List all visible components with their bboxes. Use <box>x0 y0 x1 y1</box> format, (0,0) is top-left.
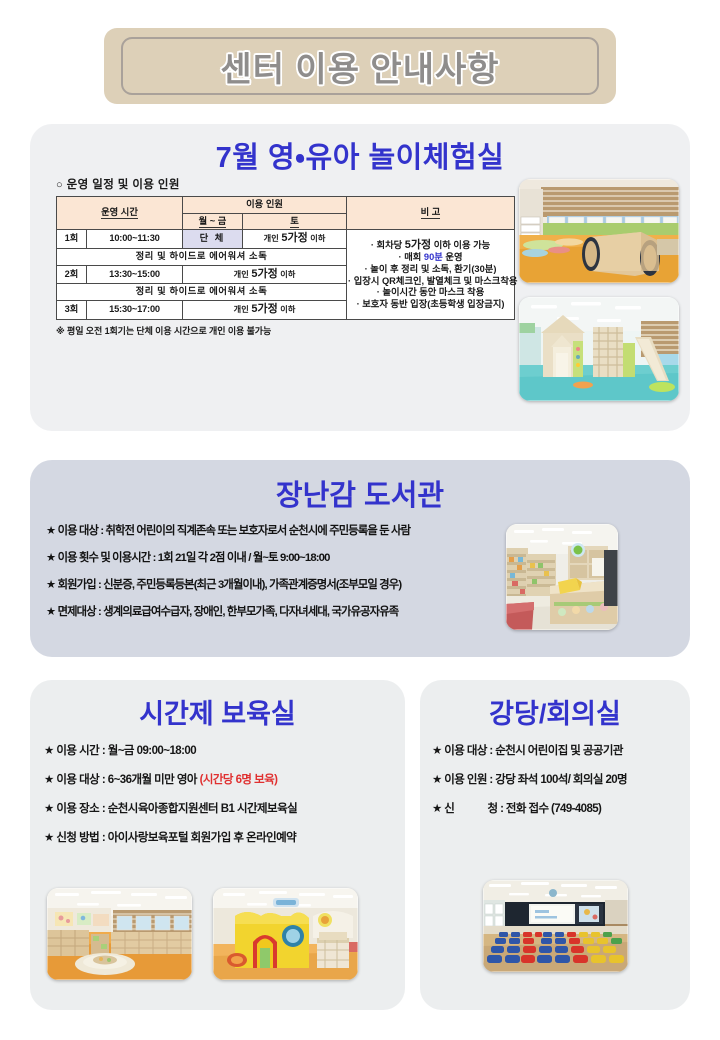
list-item-text: ★ 신청 방법 : 아이사랑보육포털 회원가입 후 온라인예약 <box>44 832 296 844</box>
list-item: ★ 이용 인원 : 강당 좌석 100석/ 회의실 20명 <box>432 771 694 787</box>
toy-library-info-list: ★ 이용 대상 : 취학전 어린이의 직계존속 또는 보호자로서 순천시에 주민… <box>46 522 546 630</box>
list-item-text: ★ 이용 대상 : 6~36개월 미만 영아 <box>44 774 200 786</box>
section-toy-library-heading: 장난감 도서관 <box>30 460 690 514</box>
sanitize-note: 정리 및 하이드로 에어워셔 소독 <box>57 248 347 265</box>
poster-title-frame: 센터 이용 안내사항 <box>121 37 599 95</box>
list-item-value: 전화 접수 (749-4085) <box>506 803 601 815</box>
session-no: 3회 <box>57 300 87 319</box>
list-item-label: ★ 신 <box>432 803 454 815</box>
list-item-highlight: (시간당 6명 보육) <box>200 774 278 786</box>
playroom-tunnel-illustration <box>519 179 679 283</box>
toy-library-illustration <box>506 524 618 630</box>
operation-schedule-table: 운영 시간 이용 인원 비 고 월 ~ 금 <box>56 196 515 320</box>
table-header-row-1: 운영 시간 이용 인원 비 고 <box>57 197 515 214</box>
list-item-text: ★ 이용 시간 : 월~금 09:00~18:00 <box>44 745 196 757</box>
session-no: 1회 <box>57 230 87 249</box>
table-row: 1회 10:00~11:30 단 체 개인 5가정 이하 · 회차당 5가정 이… <box>57 230 515 249</box>
schedule-table-caption: ○ 운영 일정 및 이용 인원 <box>56 176 516 196</box>
playroom-structure-photo <box>519 297 679 401</box>
list-item: ★ 신 청 : 전화 접수 (749-4085) <box>432 800 694 816</box>
session-no: 2회 <box>57 265 87 284</box>
page-title: 센터 이용 안내사항 <box>220 42 499 91</box>
th-operation-time: 운영 시간 <box>57 197 183 230</box>
list-item-value: 강당 좌석 100석/ 회의실 20명 <box>495 774 627 786</box>
daycare-room-photo <box>47 888 192 980</box>
toy-library-photo <box>506 524 618 630</box>
list-item-text: ★ 이용 장소 : 순천시육아종합지원센터 B1 시간제보육실 <box>44 803 297 815</box>
remark-item: · 보호자 동반 입장(초등학생 입장금지) <box>348 299 513 311</box>
section-hourly-daycare-heading: 시간제 보육실 <box>30 680 405 731</box>
list-item: ★ 이용 시간 : 월~금 09:00~18:00 <box>44 742 396 758</box>
hourly-daycare-info-list: ★ 이용 시간 : 월~금 09:00~18:00 ★ 이용 대상 : 6~36… <box>44 742 396 858</box>
list-item: ★ 면제대상 : 생계의료급여수급자, 장애인, 한부모가족, 다자녀세대, 국… <box>46 603 546 619</box>
th-weekday: 월 ~ 금 <box>183 213 243 230</box>
th-remarks: 비 고 <box>347 197 515 230</box>
auditorium-info-list: ★ 이용 대상 : 순천시 어린이집 및 공공기관 ★ 이용 인원 : 강당 좌… <box>432 742 694 829</box>
daycare-playhouse-illustration <box>213 888 358 980</box>
daycare-playhouse-photo <box>213 888 358 980</box>
remarks-cell: · 회차당 5가정 이하 이용 가능 · 매회 90분 운영 · 놀이 후 정리… <box>347 230 515 319</box>
section-auditorium-heading: 강당/회의실 <box>420 680 690 731</box>
list-item-label: ★ 이용 인원 : <box>432 774 495 786</box>
schedule-caption-text: 운영 일정 및 이용 인원 <box>67 179 180 191</box>
schedule-footnote: ※ 평일 오전 1회기는 단체 이용 시간으로 개인 이용 불가능 <box>56 320 516 337</box>
remark-item: · 회차당 5가정 이하 이용 가능 <box>348 239 513 253</box>
poster-title-banner: 센터 이용 안내사항 <box>104 28 616 104</box>
session-merged-capacity: 개인 5가정 이하 <box>183 265 347 284</box>
auditorium-photo <box>483 880 628 972</box>
remark-item: · 입장시 QR체크인, 발열체크 및 마스크착용 <box>348 276 513 288</box>
list-item-label-2: 청 : <box>488 803 506 815</box>
schedule-table-wrapper: ○ 운영 일정 및 이용 인원 운영 시간 이용 인원 <box>56 176 516 337</box>
auditorium-illustration <box>483 880 628 972</box>
sanitize-note: 정리 및 하이드로 에어워셔 소독 <box>57 284 347 301</box>
remark-item: · 놀이시간 동안 마스크 착용 <box>348 287 513 299</box>
playroom-structure-illustration <box>519 297 679 401</box>
th-saturday: 토 <box>243 213 347 230</box>
list-item: ★ 신청 방법 : 아이사랑보육포털 회원가입 후 온라인예약 <box>44 829 396 845</box>
session-time: 13:30~15:00 <box>87 265 183 284</box>
list-item: ★ 회원가입 : 신분증, 주민등록등본(최근 3개월이내), 가족관계증명서(… <box>46 576 546 592</box>
session-merged-capacity: 개인 5가정 이하 <box>183 300 347 319</box>
session-time: 15:30~17:00 <box>87 300 183 319</box>
list-item: ★ 이용 대상 : 취학전 어린이의 직계존속 또는 보호자로서 순천시에 주민… <box>46 522 546 538</box>
daycare-room-illustration <box>47 888 192 980</box>
playroom-tunnel-photo <box>519 179 679 283</box>
list-item: ★ 이용 대상 : 순천시 어린이집 및 공공기관 <box>432 742 694 758</box>
poster-page: 센터 이용 안내사항 7월 영・유아 놀이체험실 ○ 운영 일정 및 이용 인원 <box>0 0 720 1040</box>
th-capacity: 이용 인원 <box>183 197 347 214</box>
list-item: ★ 이용 횟수 및 이용시간 : 1회 21일 각 2점 이내 / 월~토 9:… <box>46 549 546 565</box>
session-weekday-capacity: 단 체 <box>183 230 243 249</box>
remark-item: · 놀이 후 정리 및 소독, 환기(30분) <box>348 264 513 276</box>
session-time: 10:00~11:30 <box>87 230 183 249</box>
circle-bullet-icon: ○ <box>56 179 63 191</box>
remark-item: · 매회 90분 운영 <box>348 252 513 264</box>
section-play-heading: 7월 영・유아 놀이체험실 <box>30 124 690 176</box>
list-item: ★ 이용 대상 : 6~36개월 미만 영아 (시간당 6명 보육) <box>44 771 396 787</box>
list-item-value: 순천시 어린이집 및 공공기관 <box>495 745 623 757</box>
session-saturday-capacity: 개인 5가정 이하 <box>243 230 347 249</box>
list-item: ★ 이용 장소 : 순천시육아종합지원센터 B1 시간제보육실 <box>44 800 396 816</box>
list-item-label: ★ 이용 대상 : <box>432 745 495 757</box>
